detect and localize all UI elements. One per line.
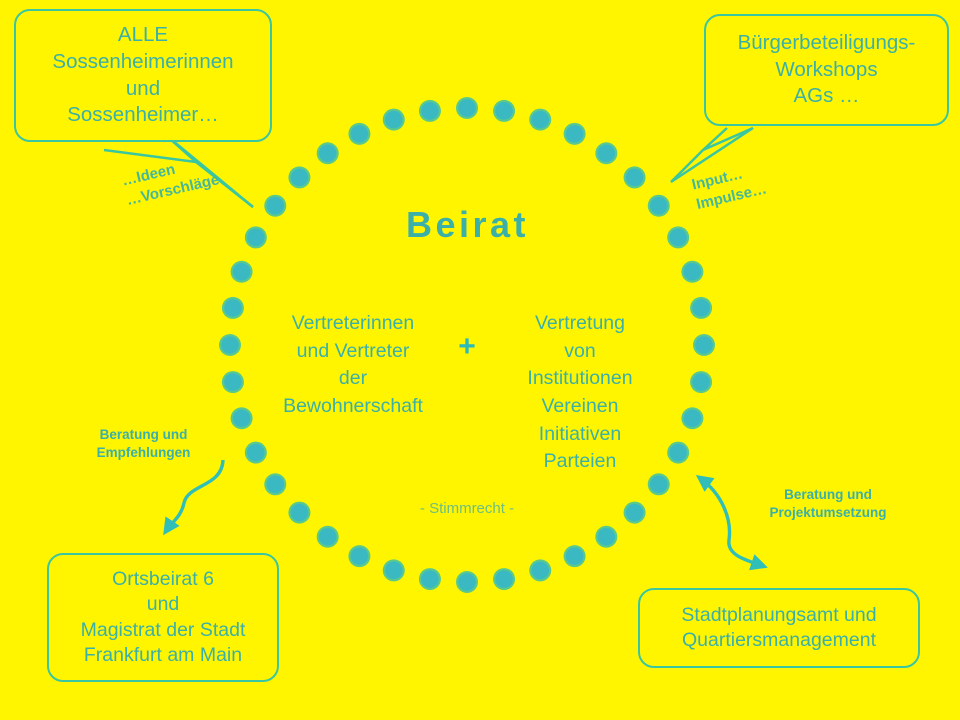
- ring-dot-outer: [317, 142, 339, 164]
- ring-dot: [266, 476, 284, 494]
- ring-dot-outer: [595, 526, 617, 548]
- annotation-ideen: …Ideen …Vorschläge: [120, 151, 221, 210]
- ring-dot: [247, 444, 265, 462]
- diagram-canvas: ALLE Sossenheimerinnen und Sossenheimer……: [0, 0, 960, 720]
- ring-dot: [598, 144, 616, 162]
- ring-dot-outer: [456, 571, 478, 593]
- bubble-alle-text: ALLE Sossenheimerinnen und Sossenheimer…: [16, 22, 270, 129]
- ring-dot-outer: [624, 502, 646, 524]
- stimmrecht-note: - Stimmrecht -: [367, 500, 567, 517]
- ring-dot-outer: [667, 442, 689, 464]
- ring-dot-outer: [288, 502, 310, 524]
- bubble-workshops-text: Bürgerbeteiligungs- Workshops AGs …: [706, 30, 947, 110]
- ring-dot-outer: [317, 526, 339, 548]
- ring-dot: [566, 125, 584, 143]
- ring-dot-outer: [264, 473, 286, 495]
- ring-dot: [421, 570, 439, 588]
- ring-dot-outer: [231, 261, 253, 283]
- ring-dot-outer: [667, 226, 689, 248]
- ring-dot-outer: [383, 109, 405, 131]
- ring-dot: [669, 229, 687, 247]
- ring-dot-outer: [222, 297, 244, 319]
- ring-dot: [233, 263, 251, 281]
- ring-dot-outer: [231, 407, 253, 429]
- bubble-ortsbeirat[interactable]: Ortsbeirat 6 und Magistrat der Stadt Fra…: [47, 553, 279, 682]
- ring-dot: [221, 336, 239, 354]
- bubble-alle[interactable]: ALLE Sossenheimerinnen und Sossenheimer…: [14, 9, 272, 142]
- ring-dot: [626, 504, 644, 522]
- ring-dot-outer: [288, 166, 310, 188]
- annotation-beratung-empfehlungen: Beratung und Empfehlungen: [76, 426, 211, 461]
- ring-dot: [598, 528, 616, 546]
- bubble-stadtplanung-text: Stadtplanungsamt und Quartiersmanagement: [640, 603, 918, 654]
- ring-dot: [650, 197, 668, 215]
- ring-dot: [495, 102, 513, 120]
- ring-dot-outer: [595, 142, 617, 164]
- ring-dot-outer: [564, 123, 586, 145]
- ring-dot: [319, 528, 337, 546]
- annotation-beratung-projektumsetzung: Beratung und Projektumsetzung: [748, 486, 908, 521]
- ring-dot-outer: [693, 334, 715, 356]
- ring-dot: [531, 562, 549, 580]
- plus-icon: +: [450, 332, 484, 362]
- ring-dot: [224, 373, 242, 391]
- ring-dot: [458, 573, 476, 591]
- ring-dot-outer: [690, 297, 712, 319]
- ring-dot-outer: [383, 559, 405, 581]
- ring-dot: [626, 169, 644, 187]
- ring-dot: [684, 409, 702, 427]
- ring-dot: [531, 111, 549, 129]
- ring-dot: [692, 373, 710, 391]
- ring-dot: [458, 99, 476, 117]
- ring-dot: [291, 504, 309, 522]
- ring-dot: [266, 197, 284, 215]
- ring-dot: [669, 444, 687, 462]
- bubble-ortsbeirat-text: Ortsbeirat 6 und Magistrat der Stadt Fra…: [49, 567, 277, 668]
- ring-dot-outer: [648, 473, 670, 495]
- ring-dot-outer: [564, 545, 586, 567]
- ring-dot-outer: [419, 100, 441, 122]
- ring-dot: [233, 409, 251, 427]
- arrow-beratung-empfehlungen: [166, 460, 223, 531]
- ring-dot: [351, 547, 369, 565]
- center-right-column: Vertretung von Institutionen Vereinen In…: [495, 310, 665, 476]
- ring-dot: [692, 299, 710, 317]
- ring-dot: [247, 229, 265, 247]
- ring-dot-outer: [456, 97, 478, 119]
- annotation-input: Input… Impulse…: [690, 160, 769, 214]
- ring-dot-outer: [529, 109, 551, 131]
- ring-dot: [495, 570, 513, 588]
- ring-dot: [385, 111, 403, 129]
- bubble-tail-workshops: [703, 128, 753, 150]
- bubble-workshops[interactable]: Bürgerbeteiligungs- Workshops AGs …: [704, 14, 949, 126]
- ring-dot: [695, 336, 713, 354]
- ring-dot-outer: [219, 334, 241, 356]
- ring-dot-outer: [529, 559, 551, 581]
- ring-dot: [650, 476, 668, 494]
- ring-dot: [421, 102, 439, 120]
- ring-dot-outer: [493, 568, 515, 590]
- ring-dot-outer: [690, 371, 712, 393]
- ring-dot-outer: [348, 123, 370, 145]
- ring-dot: [684, 263, 702, 281]
- ring-dot-outer: [419, 568, 441, 590]
- ring-dot-outer: [493, 100, 515, 122]
- ring-dot-outer: [681, 407, 703, 429]
- ring-dot-outer: [648, 195, 670, 217]
- ring-dot-outer: [348, 545, 370, 567]
- ring-dot-outer: [222, 371, 244, 393]
- ring-dot: [224, 299, 242, 317]
- ring-dot-outer: [264, 195, 286, 217]
- ring-dot: [319, 144, 337, 162]
- ring-dot-outer: [681, 261, 703, 283]
- ring-dot: [385, 562, 403, 580]
- center-left-column: Vertreterinnen und Vertreter der Bewohne…: [268, 310, 438, 421]
- ring-dot-outer: [624, 166, 646, 188]
- bubble-stadtplanung[interactable]: Stadtplanungsamt und Quartiersmanagement: [638, 588, 920, 668]
- ring-dot-outer: [245, 442, 267, 464]
- page-title: Beirat: [330, 204, 605, 246]
- ring-dot: [291, 169, 309, 187]
- ring-dot-outer: [245, 226, 267, 248]
- ring-dot: [351, 125, 369, 143]
- ring-dot: [566, 547, 584, 565]
